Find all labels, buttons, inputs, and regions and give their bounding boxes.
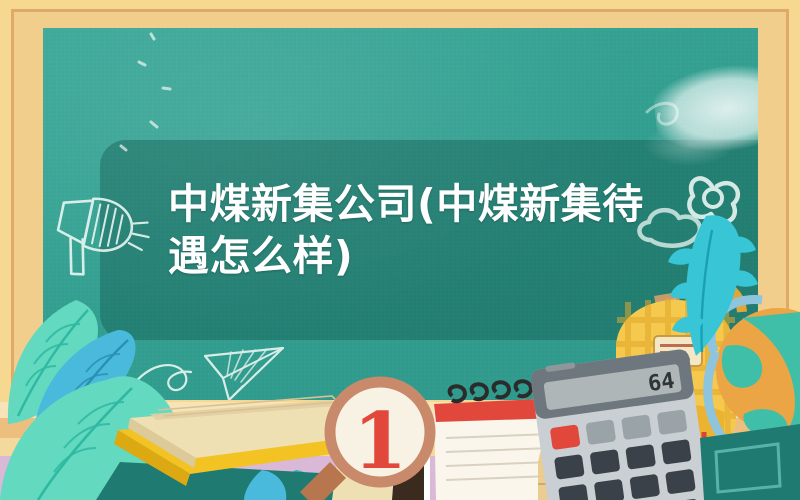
calculator[interactable]: 64 [529,346,713,500]
calculator-display-value: 64 [646,369,676,397]
props-layer: 64 [0,0,800,500]
magnifier-number: 1 [353,396,407,487]
cover-illustration: 中煤新集公司(中煤新集待 遇怎么样) [0,0,800,500]
